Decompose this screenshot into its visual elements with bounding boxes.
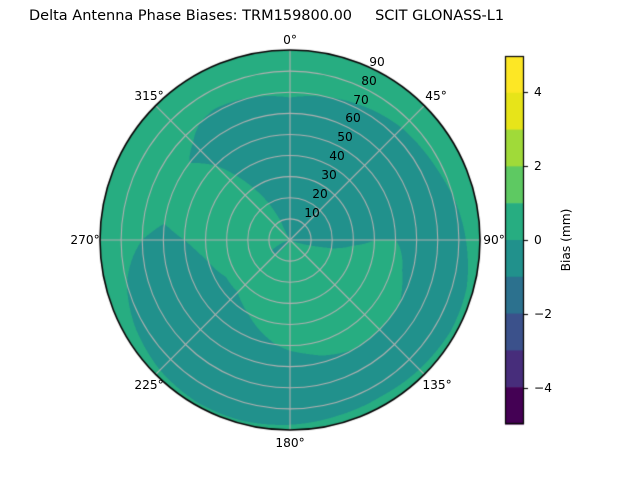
colorbar-tick-label: 4 (534, 86, 542, 98)
angular-tick-label: 315° (134, 90, 163, 102)
colorbar-axis-label: Bias (mm) (560, 209, 572, 272)
figure-canvas-container: Delta Antenna Phase Biases: TRM159800.00… (0, 0, 640, 480)
angular-tick-label: 225° (134, 379, 163, 391)
radial-tick-label: 40 (329, 150, 345, 162)
radial-tick-label: 20 (312, 188, 328, 200)
radial-tick-label: 10 (304, 207, 320, 219)
colorbar-tick-label: 2 (534, 160, 542, 172)
angular-tick-label: 0° (283, 34, 297, 46)
angular-tick-label: 270° (70, 234, 99, 246)
radial-tick-label: 50 (337, 131, 353, 143)
colorbar-tick-label: −4 (534, 382, 552, 394)
colorbar-tick-label: −2 (534, 308, 552, 320)
radial-tick-label: 60 (345, 112, 361, 124)
page-title: Delta Antenna Phase Biases: TRM159800.00… (29, 9, 504, 24)
radial-tick-label: 30 (321, 169, 337, 181)
radial-tick-label: 80 (361, 75, 377, 87)
colorbar-tick-label: 0 (534, 234, 542, 246)
angular-tick-label: 45° (425, 90, 447, 102)
angular-tick-label: 135° (422, 379, 451, 391)
angular-tick-label: 180° (275, 437, 304, 449)
angular-tick-label: 90° (483, 234, 505, 246)
radial-tick-label: 70 (353, 94, 369, 106)
radial-tick-label: 90 (369, 56, 385, 68)
